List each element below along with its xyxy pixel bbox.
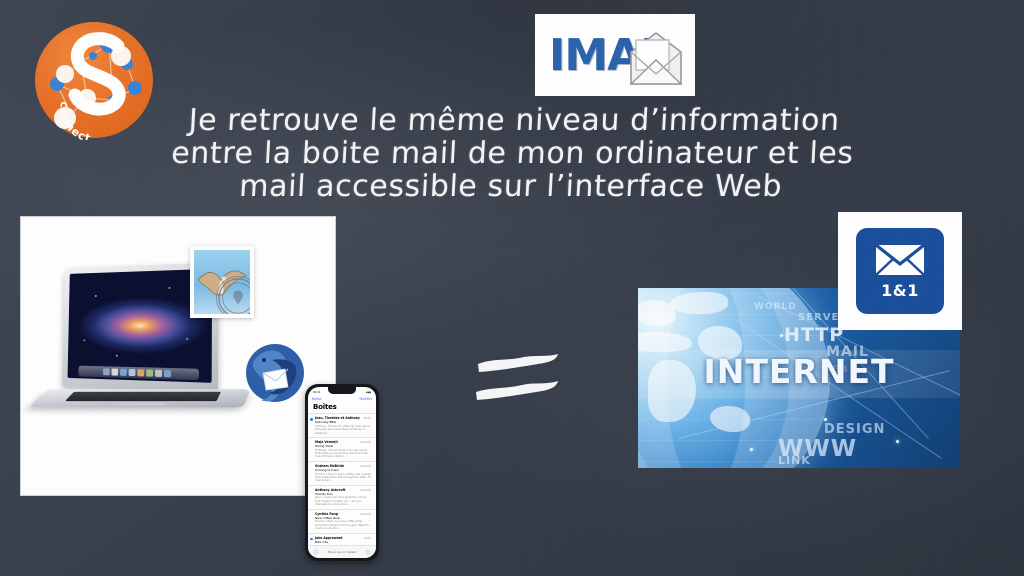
apple-mail-stamp-icon <box>190 246 254 318</box>
compose-icon[interactable] <box>365 549 371 555</box>
network-node <box>896 440 899 443</box>
mail-toolbar: Mise à jour à l’instant <box>308 545 376 558</box>
unread-indicator <box>310 538 312 540</box>
laptop-base <box>29 389 250 407</box>
oneone-mail-badge: 1&1 <box>838 212 962 330</box>
keyword-design: DESIGN <box>824 422 885 437</box>
message-preview: Hi Elena, I found some cool new hiking t… <box>315 449 371 459</box>
message-time: mercredi <box>360 489 371 492</box>
equals-sign-chalk <box>472 348 564 410</box>
mail-list-title: Boîtes <box>308 402 376 413</box>
message-preview: John, I knew you’d be quite the runner a… <box>315 496 371 506</box>
oneone-label: 1&1 <box>881 281 919 300</box>
laptop-trackpad <box>112 402 165 405</box>
keyword-link: LINK <box>778 454 811 467</box>
slide-canvas: connect IMAP Je retrouve le même niveau … <box>0 0 1024 576</box>
continent-shape <box>670 292 728 314</box>
unread-indicator <box>310 418 312 420</box>
message-subject: Bike ride <box>315 540 371 544</box>
nav-back-button[interactable]: Boîtes <box>312 397 322 401</box>
list-item[interactable]: Cynthia Fong mercredi New coffee shop Hi… <box>308 509 376 533</box>
laptop-keyboard <box>65 392 221 401</box>
message-time: mercredi <box>360 441 371 444</box>
phone-notch <box>328 387 356 394</box>
list-item[interactable]: Graham McBride mercredi Coming to town H… <box>308 461 376 485</box>
keyword-http: HTTP <box>784 324 844 346</box>
list-item[interactable]: Anthony Ashcroft mercredi Charity Run Jo… <box>308 485 376 509</box>
headline-line-3: mail accessible sur l’interface Web <box>57 170 964 203</box>
continent-shape <box>638 332 692 352</box>
message-preview: Hi John, I’ll be in town a little over a… <box>315 473 371 483</box>
oneone-tile[interactable]: 1&1 <box>856 228 944 314</box>
list-item[interactable]: Maja Vemerji mercredi Hiking Trails Hi E… <box>308 437 376 461</box>
iphone-mail-device: 09:41 ▪▪▮ Boîtes Modifier Boîtes Jean, T… <box>305 384 379 561</box>
message-preview: Anthony, Thanks for offering! How about … <box>315 425 371 435</box>
imap-badge: IMAP <box>535 14 695 96</box>
headline-line-1: Je retrouve le même niveau d’information <box>61 104 968 137</box>
message-time: mardi <box>364 537 371 540</box>
status-icons: ▪▪▮ <box>366 391 371 394</box>
message-preview: Hi John, There is a new coffee shop acro… <box>315 520 371 530</box>
headline-line-2: entre la boite mail de mon ordinateur et… <box>59 137 966 170</box>
message-time: mercredi <box>360 465 371 468</box>
status-time: 09:41 <box>313 391 320 394</box>
phone-screen: 09:41 ▪▪▮ Boîtes Modifier Boîtes Jean, T… <box>308 387 376 558</box>
mail-refresh-status: Mise à jour à l’instant <box>328 551 356 554</box>
envelope-icon <box>874 243 926 277</box>
network-node <box>824 418 827 421</box>
list-item[interactable]: Jake Appreward mardi Bike ride <box>308 533 376 545</box>
filter-icon[interactable] <box>313 549 319 555</box>
open-envelope-icon <box>623 30 689 88</box>
page-title: Je retrouve le même niveau d’information… <box>57 104 967 203</box>
message-time: mercredi <box>360 513 371 516</box>
macos-dock <box>78 366 199 381</box>
mail-message-list[interactable]: Jean, Thedeke et Anthony 09:41 Saturday … <box>308 413 376 545</box>
internet-headline: INTERNET <box>638 352 960 391</box>
message-sender: Jake Appreward <box>315 536 343 540</box>
network-node <box>780 334 783 337</box>
thunderbird-logo-icon <box>245 343 305 403</box>
stamp-artwork-eagle <box>194 250 250 314</box>
nav-edit-button[interactable]: Modifier <box>359 397 372 401</box>
network-node <box>750 448 753 451</box>
continent-shape <box>638 300 676 326</box>
list-item[interactable]: Jean, Thedeke et Anthony 09:41 Saturday … <box>308 413 376 437</box>
message-time: 09:41 <box>364 417 371 420</box>
keyword-world: WORLD <box>754 302 797 312</box>
